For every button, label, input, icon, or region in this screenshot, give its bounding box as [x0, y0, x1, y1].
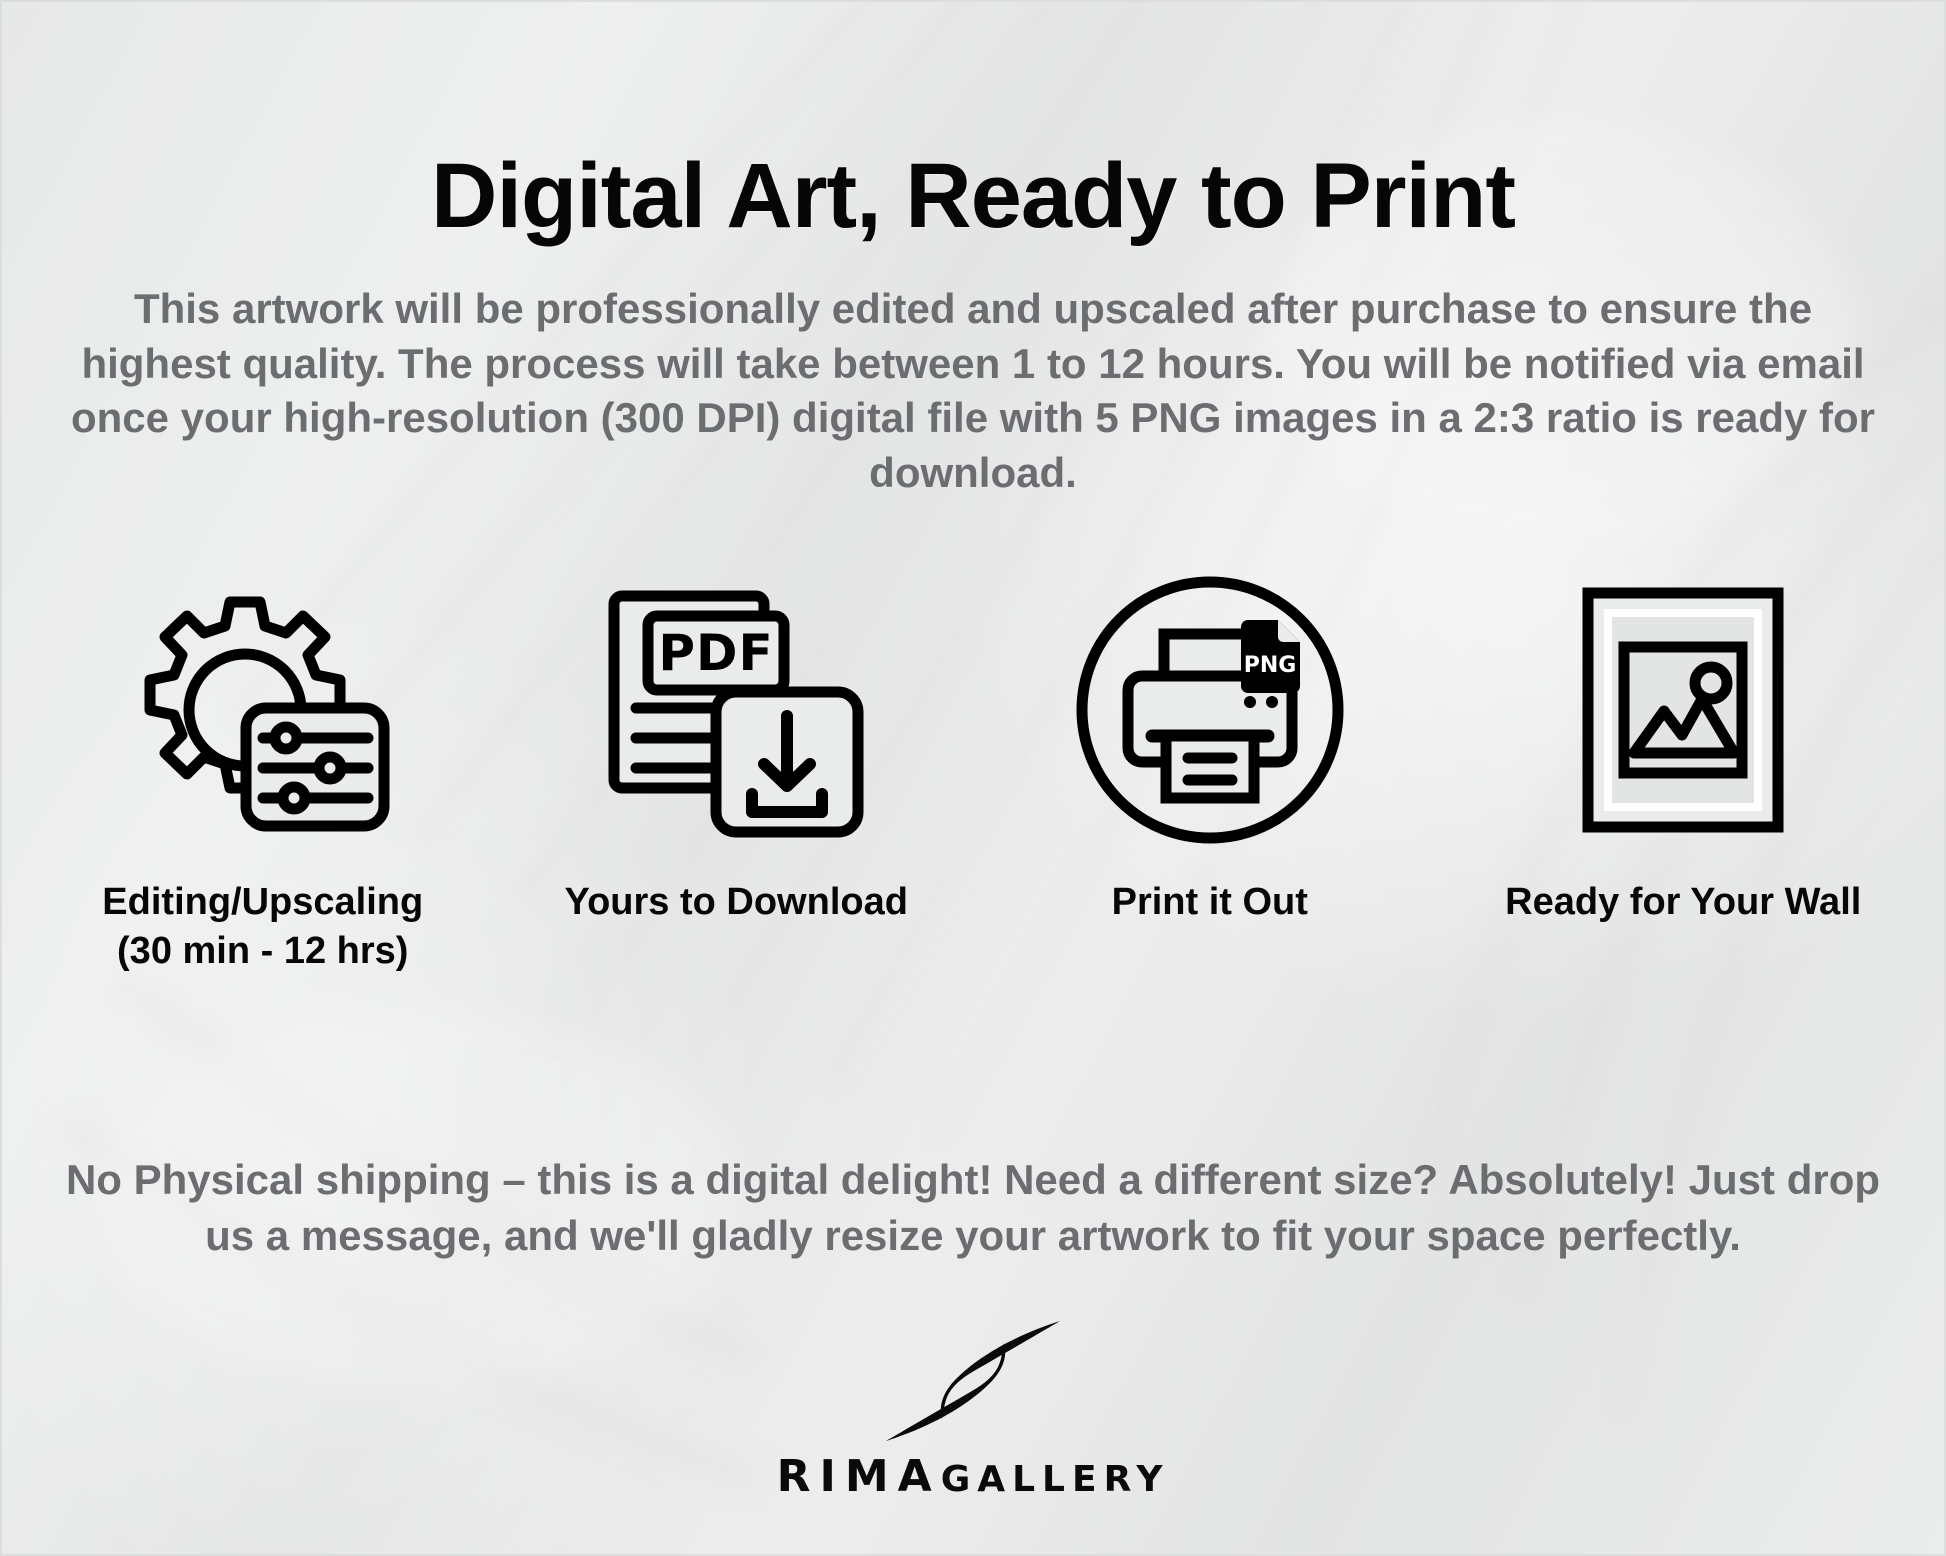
- feature-icon-wrapper: [118, 560, 408, 860]
- logo-name-secondary: GALLERY: [941, 1459, 1170, 1500]
- logo-wordmark: RIMA GALLERY: [777, 1451, 1170, 1502]
- feature-icon-wrapper: [1578, 560, 1788, 860]
- framed-picture-icon: [1578, 585, 1788, 835]
- feature-item-download: PDF Yours to Download: [516, 560, 956, 927]
- pdf-download-icon: PDF: [596, 580, 876, 840]
- intro-paragraph: This artwork will be professionally edit…: [58, 282, 1888, 500]
- feature-label: Editing/Upscaling (30 min - 12 hrs): [102, 878, 423, 975]
- pdf-label-text: PDF: [659, 624, 774, 682]
- page-title: Digital Art, Ready to Print: [0, 148, 1946, 245]
- feature-icon-wrapper: PNG: [1072, 560, 1348, 860]
- feature-label: Print it Out: [1112, 878, 1308, 927]
- feature-item-print: PNG Print it Out: [990, 560, 1430, 927]
- feature-item-wall: Ready for Your Wall: [1463, 560, 1903, 927]
- feature-icon-wrapper: PDF: [596, 560, 876, 860]
- rima-swoosh-logo-icon: [848, 1315, 1098, 1447]
- feature-row: Editing/Upscaling (30 min - 12 hrs): [0, 560, 1946, 975]
- png-badge-text: PNG: [1243, 653, 1296, 678]
- logo-name-primary: RIMA: [777, 1451, 941, 1502]
- poster-canvas: Digital Art, Ready to Print This artwork…: [0, 0, 1946, 1556]
- printer-circle-png-icon: PNG: [1072, 572, 1348, 848]
- brand-logo: RIMA GALLERY: [0, 1315, 1946, 1502]
- outro-paragraph: No Physical shipping – this is a digital…: [53, 1152, 1893, 1265]
- feature-item-editing-upscaling: Editing/Upscaling (30 min - 12 hrs): [43, 560, 483, 975]
- feature-label: Yours to Download: [565, 878, 908, 927]
- feature-label: Ready for Your Wall: [1505, 878, 1861, 927]
- gear-sliders-icon: [118, 580, 408, 840]
